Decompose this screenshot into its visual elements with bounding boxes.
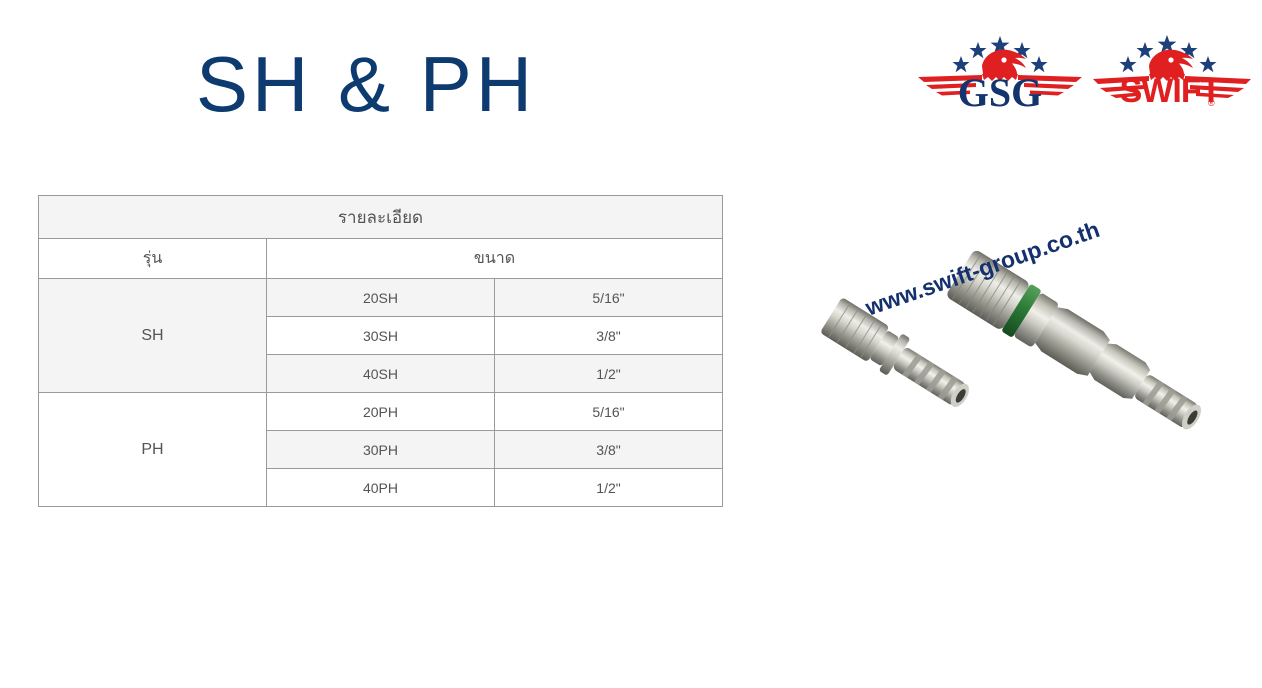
column-header-size: ขนาด xyxy=(267,239,723,279)
table-column-header-row: รุ่น ขนาด xyxy=(39,239,723,279)
model-cell: 20SH xyxy=(267,279,495,317)
size-cell: 5/16" xyxy=(495,393,723,431)
size-cell: 1/2" xyxy=(495,469,723,507)
model-cell: 30PH xyxy=(267,431,495,469)
product-photo xyxy=(798,248,1218,480)
hose-barb xyxy=(892,346,973,410)
table-row: SH 20SH 5/16" xyxy=(39,279,723,317)
large-coupler-socket xyxy=(945,249,1212,445)
page-title: SH & PH xyxy=(196,42,536,128)
model-cell: 20PH xyxy=(267,393,495,431)
swift-logo-text: SWIFT xyxy=(1120,72,1222,110)
model-cell: 40SH xyxy=(267,355,495,393)
column-header-model: รุ่น xyxy=(39,239,267,279)
model-cell: 30SH xyxy=(267,317,495,355)
registered-mark-icon: ® xyxy=(1208,98,1215,108)
size-cell: 1/2" xyxy=(495,355,723,393)
swift-logo: SWIFT ® xyxy=(1092,22,1252,122)
table-main-header-row: รายละเอียด xyxy=(39,196,723,239)
table-row: PH 20PH 5/16" xyxy=(39,393,723,431)
spec-table: รายละเอียด รุ่น ขนาด SH 20SH 5/16" 30SH … xyxy=(38,195,723,507)
table-main-header: รายละเอียด xyxy=(39,196,723,239)
group-label-sh: SH xyxy=(39,279,267,393)
size-cell: 3/8" xyxy=(495,317,723,355)
gsg-logo-text: GSG xyxy=(958,70,1042,115)
group-label-ph: PH xyxy=(39,393,267,507)
model-cell: 40PH xyxy=(267,469,495,507)
size-cell: 3/8" xyxy=(495,431,723,469)
gsg-logo: GSG xyxy=(916,22,1084,122)
size-cell: 5/16" xyxy=(495,279,723,317)
hose-barb xyxy=(1133,373,1205,432)
small-coupler-plug xyxy=(819,296,977,418)
